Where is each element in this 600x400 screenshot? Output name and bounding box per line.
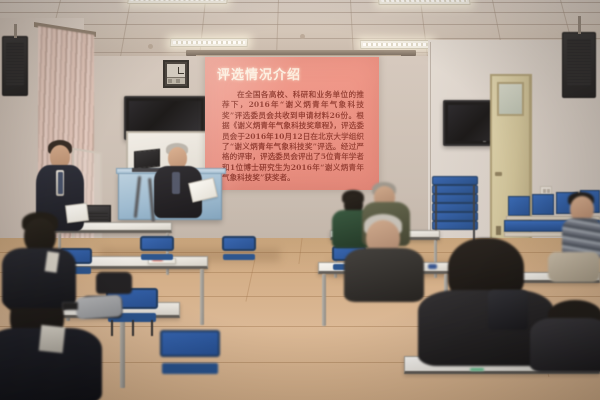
photo-scene: 评选情况介绍 在全国各高校、科研和业务单位的推荐下，2016年“谢义炳青年气象科… xyxy=(0,0,600,400)
ceiling-light-panel xyxy=(170,38,249,47)
projection-screen: 评选情况介绍 在全国各高校、科研和业务单位的推荐下，2016年“谢义炳青年气象科… xyxy=(205,57,379,190)
wall-clock xyxy=(163,60,189,88)
phone-on-desk[interactable] xyxy=(62,302,78,310)
pen[interactable] xyxy=(470,368,484,371)
speaker-mount-left xyxy=(14,24,17,38)
backpack xyxy=(488,290,528,330)
speaker-mount-right xyxy=(578,16,581,34)
ceiling-sprinkler xyxy=(148,44,153,49)
clock-face xyxy=(167,64,185,77)
papers-in-hand xyxy=(65,203,89,224)
ceiling-light-panel xyxy=(377,0,470,5)
key-fob xyxy=(428,264,437,269)
chair[interactable] xyxy=(140,236,174,260)
clock-calendar-strip xyxy=(167,77,185,84)
door-lock[interactable] xyxy=(496,226,501,235)
ceiling-smoke-detector xyxy=(300,34,305,39)
chair[interactable] xyxy=(222,236,256,260)
ceiling-speaker-left xyxy=(2,36,28,96)
chair[interactable] xyxy=(160,330,220,374)
wall-corner-seam xyxy=(430,42,431,247)
ceiling-light-panel xyxy=(360,40,433,49)
door-handle[interactable] xyxy=(495,172,502,176)
laptop[interactable] xyxy=(132,150,162,172)
ceiling-light-panel xyxy=(127,0,229,4)
jacket-on-desk xyxy=(75,294,122,319)
laptop-screen xyxy=(134,149,160,170)
ceiling-speaker-right xyxy=(562,32,596,98)
screen-glare xyxy=(205,57,379,190)
bag-under-desk xyxy=(96,272,132,294)
door-window xyxy=(497,82,524,116)
